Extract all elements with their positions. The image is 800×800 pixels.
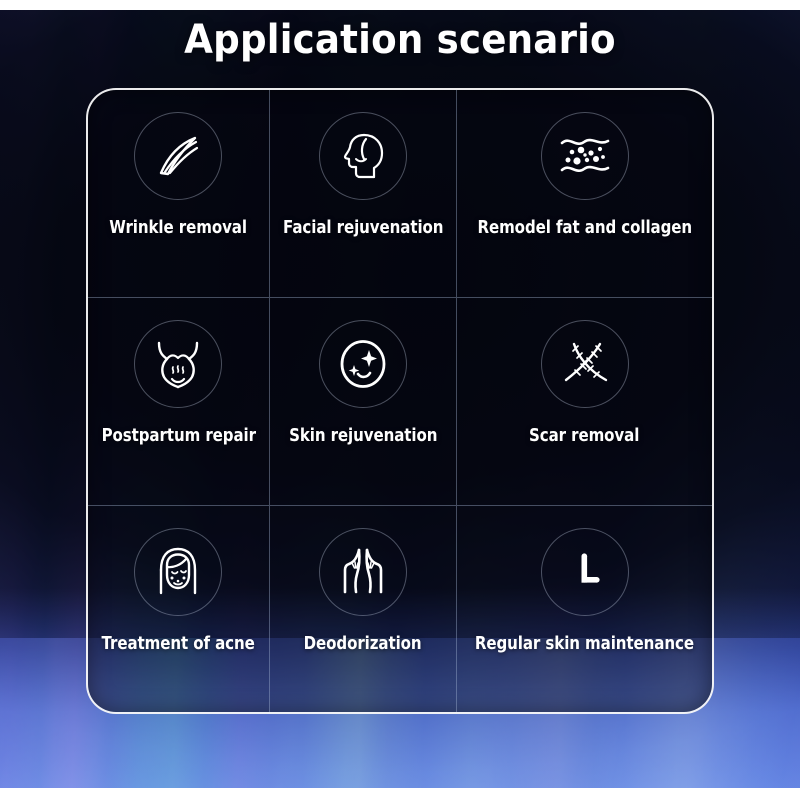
underarm-torso-icon	[319, 528, 407, 616]
scenario-label: Deodorization	[304, 634, 422, 654]
scenario-label: Remodel fat and collagen	[477, 218, 692, 238]
scar-suture-icon	[541, 320, 629, 408]
page-title: Application scenario	[28, 17, 772, 63]
scenario-cell-remodel-fat-and-collagen[interactable]: Remodel fat and collagen	[457, 90, 712, 297]
scenario-cell-regular-skin-maintenance[interactable]: Regular skin maintenance	[457, 505, 712, 712]
scenario-grid: Wrinkle removal Facial rejuvenation	[88, 90, 712, 712]
scenario-cell-skin-rejuvenation[interactable]: Skin rejuvenation	[270, 297, 457, 504]
wrinkle-lines-icon	[134, 112, 222, 200]
face-profile-icon	[319, 112, 407, 200]
clock-icon	[541, 528, 629, 616]
scenario-cell-scar-removal[interactable]: Scar removal	[457, 297, 712, 504]
fat-tissue-layer-icon	[541, 112, 629, 200]
bottom-white-strip	[0, 788, 800, 800]
scenario-cell-facial-rejuvenation[interactable]: Facial rejuvenation	[270, 90, 457, 297]
scenario-label: Scar removal	[529, 426, 639, 446]
scenario-label: Regular skin maintenance	[475, 634, 694, 654]
scenario-cell-postpartum-repair[interactable]: Postpartum repair	[88, 297, 270, 504]
scenario-panel: Wrinkle removal Facial rejuvenation	[86, 88, 714, 714]
scenario-label: Treatment of acne	[102, 634, 255, 654]
scenario-label: Postpartum repair	[101, 426, 255, 446]
application-scenario-poster: Application scenario Wrinkle removal	[0, 0, 800, 800]
sparkle-face-icon	[319, 320, 407, 408]
scenario-label: Wrinkle removal	[110, 218, 248, 238]
scenario-cell-deodorization[interactable]: Deodorization	[270, 505, 457, 712]
top-white-strip	[0, 0, 800, 10]
acne-face-icon	[134, 528, 222, 616]
scenario-cell-treatment-of-acne[interactable]: Treatment of acne	[88, 505, 270, 712]
scenario-label: Facial rejuvenation	[283, 218, 443, 238]
scenario-label: Skin rejuvenation	[289, 426, 437, 446]
scenario-cell-wrinkle-removal[interactable]: Wrinkle removal	[88, 90, 270, 297]
female-torso-icon	[134, 320, 222, 408]
